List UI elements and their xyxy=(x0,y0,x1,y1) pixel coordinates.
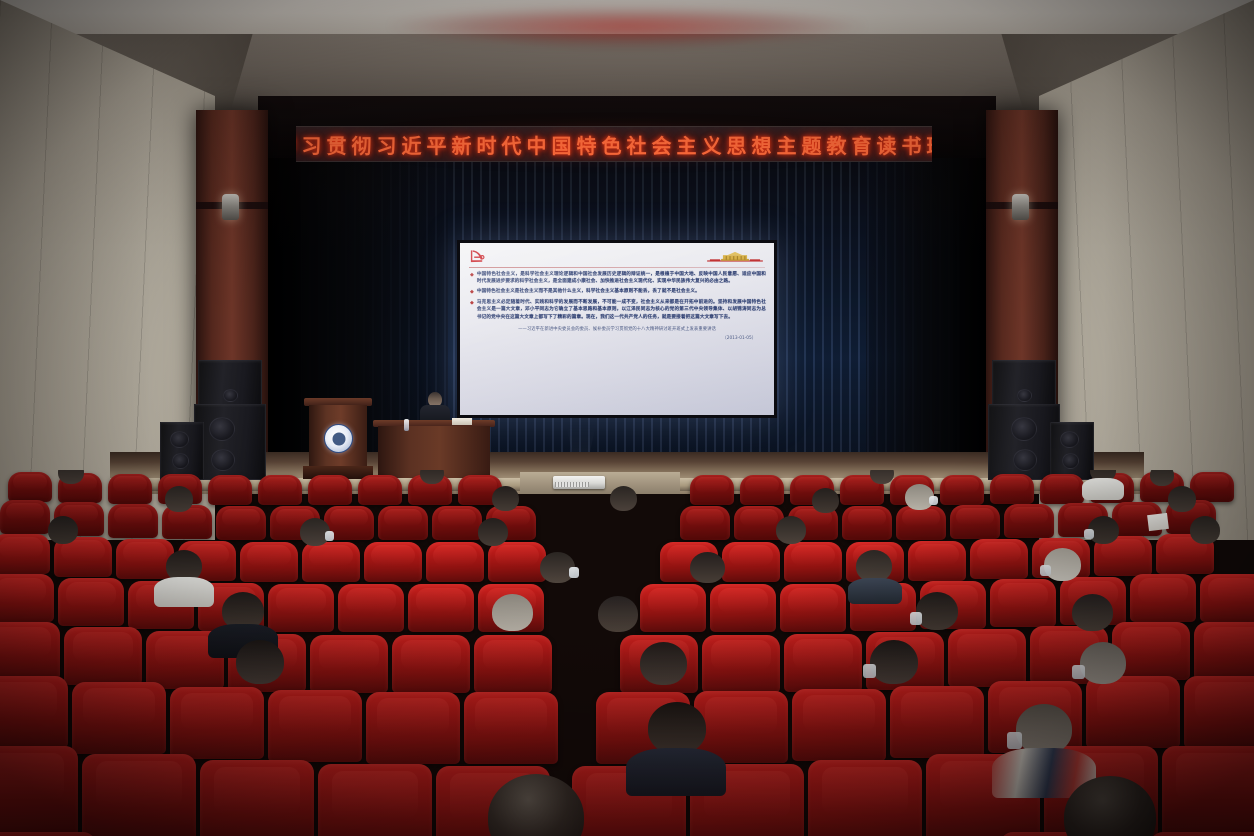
speaker-podium xyxy=(307,398,369,480)
wall-sconce-icon xyxy=(222,194,239,220)
loudspeaker-stack-right xyxy=(974,360,1094,478)
seat xyxy=(784,634,862,692)
slide-attribution-date: （2013-01-05） xyxy=(468,335,766,341)
seat xyxy=(722,542,780,582)
seat xyxy=(780,584,846,632)
person-head xyxy=(812,488,839,513)
water-bottle xyxy=(404,419,409,431)
seat xyxy=(1200,574,1254,622)
loudspeaker-main xyxy=(194,404,266,480)
seat xyxy=(990,579,1056,627)
person-head xyxy=(640,642,687,685)
seat xyxy=(1150,832,1254,836)
seat xyxy=(216,506,266,540)
seat xyxy=(318,764,432,836)
face-mask xyxy=(910,612,922,625)
seat xyxy=(842,506,892,540)
seat xyxy=(640,584,706,632)
speaker-cone-icon xyxy=(223,389,238,402)
slide-bullet: ◆ 马克思主义必定随着时代、实践和科学的发展而不断发展，不可能一成不变，社会主义… xyxy=(470,299,766,321)
person-shoulders xyxy=(154,577,214,607)
seat xyxy=(990,474,1034,504)
great-hall-emblem-icon xyxy=(706,251,764,264)
seat xyxy=(908,541,966,581)
seat xyxy=(64,627,142,685)
slide-bullet: ◆ 中国特色社会主义是社会主义而不是其他什么主义，科学社会主义基本原则不能丢，丢… xyxy=(470,288,766,296)
seat xyxy=(258,475,302,505)
party-emblem-icon xyxy=(468,248,487,265)
seat xyxy=(740,475,784,505)
seat xyxy=(0,832,96,836)
seat xyxy=(488,542,546,582)
speaker-cone-icon xyxy=(209,417,235,441)
person-head xyxy=(916,592,958,630)
led-banner: 学习贯彻习近平新时代中国特色社会主义思想主题教育读书班 xyxy=(296,126,932,162)
handout-paper xyxy=(1147,513,1169,531)
slide-header xyxy=(468,248,766,269)
seat xyxy=(310,635,388,693)
seat xyxy=(950,505,1000,539)
seat xyxy=(364,542,422,582)
slide-divider xyxy=(469,267,765,268)
seat xyxy=(302,542,360,582)
wall-sconce-icon xyxy=(1012,194,1029,220)
seat xyxy=(170,687,264,759)
seat xyxy=(970,539,1028,579)
bullet-text: 中国特色社会主义，是科学社会主义理论逻辑和中国社会发展历史逻辑的辩证统一，是根植… xyxy=(477,271,766,286)
seat xyxy=(308,475,352,505)
seat xyxy=(200,760,314,836)
seat xyxy=(702,635,780,693)
person-head xyxy=(48,516,78,544)
speaker-cone-icon xyxy=(1062,453,1079,469)
seat xyxy=(108,474,152,504)
person-head xyxy=(598,596,638,632)
face-mask xyxy=(929,496,938,505)
bullet-text: 中国特色社会主义是社会主义而不是其他什么主义，科学社会主义基本原则不能丢，丢了就… xyxy=(477,288,700,296)
bullet-marker-icon: ◆ xyxy=(470,271,474,286)
speaker-cone-icon xyxy=(1011,417,1037,441)
seat xyxy=(0,676,68,748)
face-mask xyxy=(1040,565,1051,576)
seat xyxy=(1086,676,1180,748)
person-head-grey xyxy=(492,594,533,631)
banner-text: 学习贯彻习近平新时代中国特色社会主义思想主题教育读书班 xyxy=(296,130,932,159)
person-head xyxy=(236,640,284,684)
seat xyxy=(0,622,60,680)
seat xyxy=(268,690,362,762)
loudspeaker-top xyxy=(198,360,262,406)
seat xyxy=(426,542,484,582)
seat xyxy=(0,534,50,574)
seat xyxy=(940,475,984,505)
slide-bullet-list: ◆ 中国特色社会主义，是科学社会主义理论逻辑和中国社会发展历史逻辑的辩证统一，是… xyxy=(470,271,766,321)
seat xyxy=(108,504,158,538)
bullet-marker-icon: ◆ xyxy=(470,288,474,296)
seat xyxy=(890,686,984,758)
person-head-grey xyxy=(1080,642,1126,684)
institution-seal-icon xyxy=(324,424,353,453)
person-head xyxy=(648,702,706,754)
person-head xyxy=(776,516,806,544)
seat xyxy=(392,635,470,693)
person-head xyxy=(690,552,725,583)
seat xyxy=(464,692,558,764)
speaker-cone-icon xyxy=(172,453,189,469)
seat xyxy=(680,506,730,540)
face-mask xyxy=(569,567,579,578)
seat xyxy=(0,746,78,836)
person-head xyxy=(1168,486,1196,512)
loudspeaker-top xyxy=(992,360,1056,406)
person-head xyxy=(492,486,519,511)
speaker-cone-icon xyxy=(1017,389,1032,402)
loudspeaker-stack-left xyxy=(160,360,280,478)
projection-screen-frame: ◆ 中国特色社会主义，是科学社会主义理论逻辑和中国社会发展历史逻辑的辩证统一，是… xyxy=(457,240,777,418)
seat xyxy=(690,475,734,505)
slide-bullet: ◆ 中国特色社会主义，是科学社会主义理论逻辑和中国社会发展历史逻辑的辩证统一，是… xyxy=(470,271,766,286)
seat xyxy=(1184,676,1254,748)
seat xyxy=(0,500,50,534)
person-head xyxy=(165,486,193,512)
seat xyxy=(116,539,174,579)
auditorium-photo: 学习贯彻习近平新时代中国特色社会主义思想主题教育读书班 xyxy=(0,0,1254,836)
face-mask xyxy=(325,531,334,541)
seat xyxy=(896,506,946,540)
person-head xyxy=(610,486,637,511)
seat xyxy=(1162,746,1254,836)
bullet-text: 马克思主义必定随着时代、实践和科学的发展而不断发展，不可能一成不变，社会主义从来… xyxy=(477,299,766,321)
seat xyxy=(1130,574,1196,622)
seat xyxy=(72,682,166,754)
speaker-cone-icon xyxy=(1060,431,1079,448)
seat xyxy=(1004,504,1054,538)
seat xyxy=(710,584,776,632)
seat xyxy=(792,689,886,761)
projection-screen: ◆ 中国特色社会主义，是科学社会主义理论逻辑和中国社会发展历史逻辑的辩证统一，是… xyxy=(460,243,774,415)
seat xyxy=(948,629,1026,687)
person-shoulders xyxy=(626,748,726,796)
seat xyxy=(432,506,482,540)
seat xyxy=(808,760,922,836)
seat xyxy=(1040,474,1084,504)
ceiling-red-reflection xyxy=(317,0,937,52)
person-head-grey xyxy=(1016,704,1072,754)
seat xyxy=(784,542,842,582)
slide-attribution: ——习近平在新进中央委员会的委员、候补委员学习贯彻党的十八大精神研讨班开班式上发… xyxy=(468,326,766,333)
speaker-cone-icon xyxy=(1013,449,1037,471)
name-plate xyxy=(452,418,472,425)
person-shoulders xyxy=(848,578,902,604)
seat xyxy=(1190,472,1234,502)
seat xyxy=(338,584,404,632)
seat xyxy=(0,574,54,622)
face-mask xyxy=(1007,732,1022,749)
seat xyxy=(268,584,334,632)
seat xyxy=(378,506,428,540)
seat xyxy=(366,692,460,764)
seat xyxy=(358,475,402,505)
face-mask xyxy=(863,664,876,678)
seat xyxy=(240,542,298,582)
speaker-cone-icon xyxy=(211,449,235,471)
person-head xyxy=(870,640,918,684)
seat xyxy=(474,635,552,693)
seat xyxy=(208,475,252,505)
face-mask xyxy=(1072,665,1085,679)
seat xyxy=(408,584,474,632)
face-mask xyxy=(1084,529,1094,539)
seat xyxy=(1194,622,1254,680)
person-shoulders xyxy=(1082,478,1124,500)
seat xyxy=(58,578,124,626)
speaker-cone-icon xyxy=(170,431,189,448)
bullet-marker-icon: ◆ xyxy=(470,299,474,321)
person-head xyxy=(1072,594,1113,631)
seat xyxy=(8,472,52,502)
person-head xyxy=(478,518,508,546)
audience-seating xyxy=(0,470,1254,836)
person-head xyxy=(1190,516,1220,544)
seat xyxy=(82,754,196,836)
